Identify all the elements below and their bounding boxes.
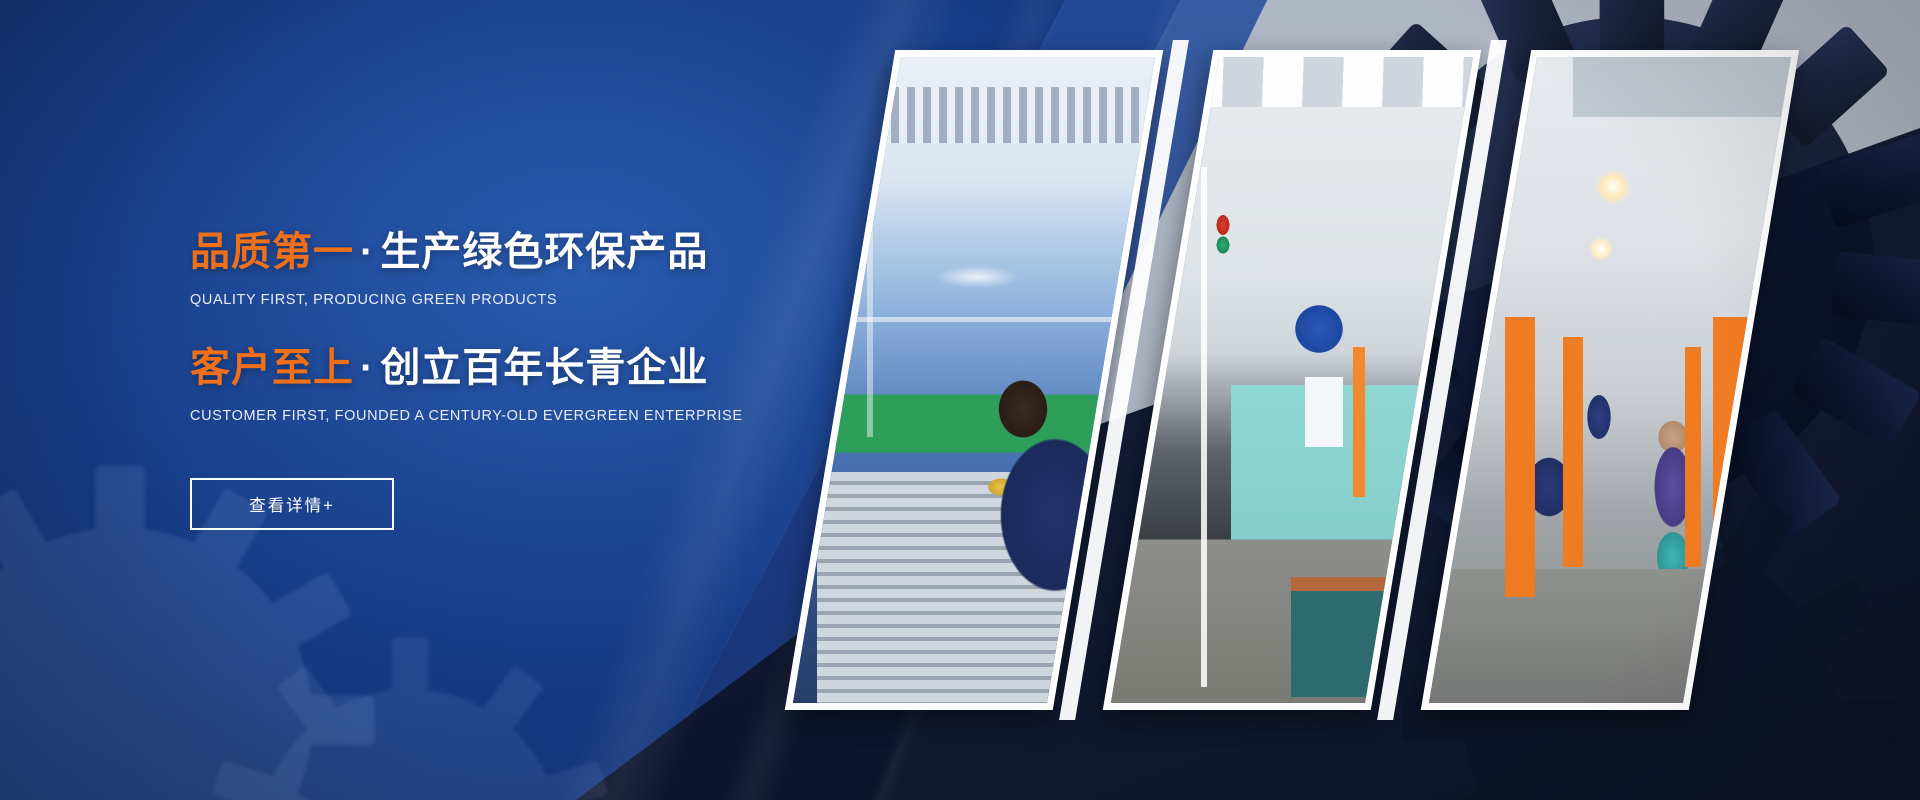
hero-banner: 品质第一·生产绿色环保产品 QUALITY FIRST, PRODUCING G… [0,0,1920,800]
hero-copy: 品质第一·生产绿色环保产品 QUALITY FIRST, PRODUCING G… [190,230,910,530]
headline-2-rest: 创立百年长青企业 [380,346,708,390]
headline-1: 品质第一·生产绿色环保产品 [190,230,910,274]
subtitle-2: CUSTOMER FIRST, FOUNDED A CENTURY-OLD EV… [190,408,910,424]
headline-2-accent: 客户至上 [190,346,354,390]
photo-strip [770,0,1920,800]
headline-1-rest: 生产绿色环保产品 [380,230,708,274]
headline-2-separator: · [354,346,380,390]
subtitle-1: QUALITY FIRST, PRODUCING GREEN PRODUCTS [190,292,910,308]
headline-spacer [190,308,910,346]
headline-1-separator: · [354,230,380,274]
headline-1-accent: 品质第一 [190,230,354,274]
view-details-button[interactable]: 查看详情+ [190,478,394,530]
headline-2: 客户至上·创立百年长青企业 [190,346,910,390]
